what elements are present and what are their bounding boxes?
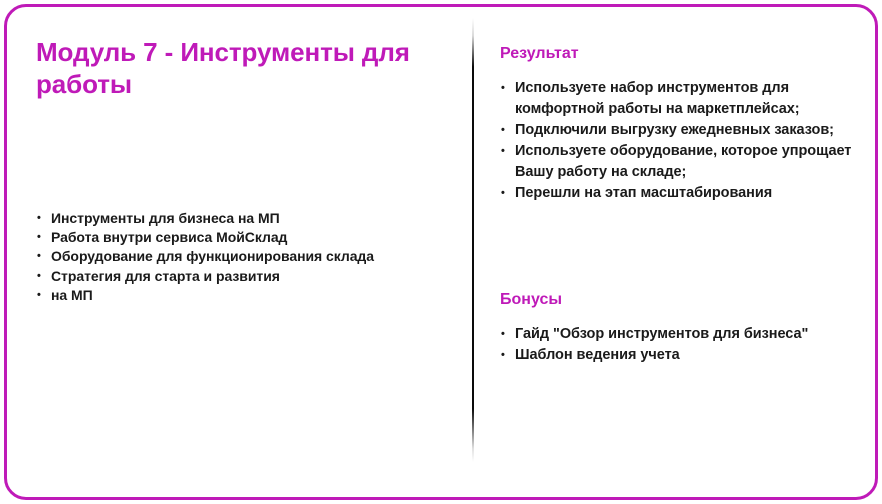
topics-list: Инструменты для бизнеса на МП Работа вну… xyxy=(36,209,466,305)
list-item: Перешли на этап масштабирования xyxy=(500,183,868,204)
slide-canvas: Модуль 7 - Инструменты для работы Инстру… xyxy=(0,0,882,504)
list-item: Гайд "Обзор инструментов для бизнеса" xyxy=(500,324,872,345)
result-section: Результат Используете набор инструментов… xyxy=(500,44,868,204)
result-heading: Результат xyxy=(500,44,868,64)
page-title: Модуль 7 - Инструменты для работы xyxy=(36,36,456,100)
result-list: Используете набор инструментов для комфо… xyxy=(500,78,868,204)
list-item: Подключили выгрузку ежедневных заказов; xyxy=(500,120,868,141)
list-item: Работа внутри сервиса МойСклад xyxy=(36,228,466,247)
bonus-heading: Бонусы xyxy=(500,290,872,310)
list-item: Инструменты для бизнеса на МП xyxy=(36,209,466,228)
column-divider xyxy=(472,18,474,462)
topics-section: Инструменты для бизнеса на МП Работа вну… xyxy=(36,209,466,305)
list-item: Используете оборудование, которое упроща… xyxy=(500,141,868,183)
bonus-list: Гайд "Обзор инструментов для бизнеса" Ша… xyxy=(500,324,872,366)
left-column: Модуль 7 - Инструменты для работы xyxy=(36,36,456,100)
bonus-section: Бонусы Гайд "Обзор инструментов для бизн… xyxy=(500,290,872,366)
list-item: Используете набор инструментов для комфо… xyxy=(500,78,868,120)
list-item: Оборудование для функционирования склада xyxy=(36,247,466,266)
list-item: Стратегия для старта и развития xyxy=(36,267,466,286)
list-item: на МП xyxy=(36,286,466,305)
list-item: Шаблон ведения учета xyxy=(500,345,872,366)
